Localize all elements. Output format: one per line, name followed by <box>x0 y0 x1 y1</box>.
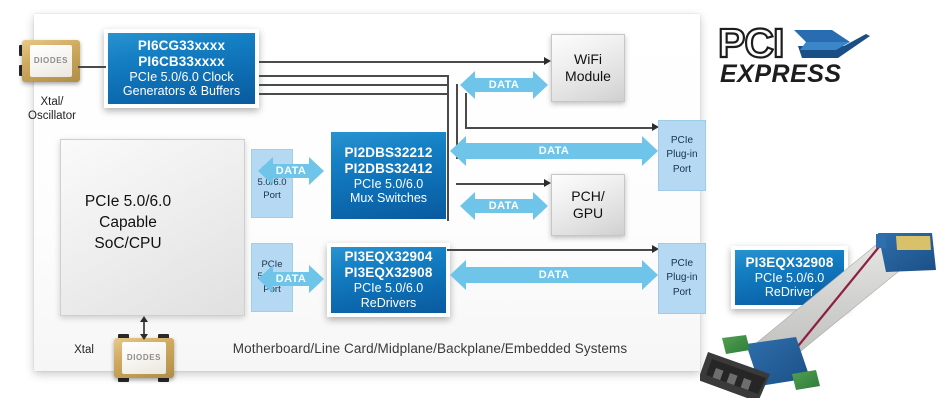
plug-top-line3: Port <box>673 163 691 177</box>
clock-arrowhead-pch <box>544 179 551 187</box>
soc-label-line3: SoC/CPU <box>67 234 189 255</box>
data-arrow-soc-mux: DATA <box>258 154 324 188</box>
wifi-line2: Module <box>565 68 611 85</box>
pcie-plugin-port-top: PCIe Plug-in Port <box>658 120 706 191</box>
clock-trace-plugbot <box>447 249 653 251</box>
data-arrow-soc-redriver-label: DATA <box>258 262 324 296</box>
xtal-bottom-lid: DIODES <box>122 342 166 373</box>
pci-express-logo-express: EXPRESS <box>720 60 842 89</box>
plug-bottom-line3: Port <box>673 286 691 300</box>
chip-clock-generator: PI6CG33xxxx PI6CB33xxxx PCIe 5.0/6.0 Clo… <box>104 29 259 108</box>
soc-label: PCIe 5.0/6.0 Capable SoC/CPU <box>67 192 189 255</box>
chip-redriver-desc2: ReDrivers <box>361 296 417 311</box>
xtal-oscillator-top: DIODES <box>22 40 80 82</box>
chip-mux-part1: PI2DBS32212 <box>345 145 433 161</box>
chip-mux-switch: PI2DBS32212 PI2DBS32412 PCIe 5.0/6.0 Mux… <box>327 128 450 223</box>
pci-express-logo: PCI EXPRESS <box>718 24 870 86</box>
pci-express-swoosh-icon <box>792 26 870 62</box>
data-arrow-plug-bottom-label: DATA <box>450 258 658 292</box>
chip-redriver-part2: PI3EQX32908 <box>345 265 433 281</box>
chip-redriver: PI3EQX32904 PI3EQX32908 PCIe 5.0/6.0 ReD… <box>327 243 450 317</box>
wifi-line1: WiFi <box>574 51 602 68</box>
data-arrow-pch-label: DATA <box>460 190 548 222</box>
plug-bottom-line1: PCIe <box>671 257 693 271</box>
chip-mux-part2: PI2DBS32412 <box>345 161 433 177</box>
chip-clock-part1: PI6CG33xxxx <box>138 38 225 54</box>
xtal-trace-clockgen <box>78 66 106 68</box>
wifi-module-block: WiFi Module <box>551 34 625 102</box>
xtal-top-brand: DIODES <box>34 56 68 65</box>
clock-trace-wifi <box>259 61 544 63</box>
clock-trace-4 <box>259 93 449 95</box>
xtal-oscillator-top-caption: Xtal/ Oscillator <box>12 96 92 124</box>
data-arrow-pch: DATA <box>460 190 548 222</box>
data-arrow-soc-redriver: DATA <box>258 262 324 296</box>
pch-gpu-block: PCH/ GPU <box>551 174 625 236</box>
clock-trace-plugtop <box>465 127 653 129</box>
soc-block: PCIe 5.0/6.0 Capable SoC/CPU PCIe 5.0/6.… <box>60 139 245 316</box>
clock-trace-pch <box>456 183 544 185</box>
xtal-bottom-caption: Xtal <box>62 344 106 358</box>
riser-top-gold-fingers <box>896 236 931 250</box>
pch-line1: PCH/ <box>571 188 604 205</box>
xtal-top-caption-line2: Oscillator <box>12 110 92 124</box>
soc-label-line1: PCIe 5.0/6.0 <box>67 192 189 213</box>
xtal-bottom-brand: DIODES <box>127 353 161 362</box>
port-top-line3: Port <box>263 190 280 203</box>
clock-trace-2 <box>259 75 449 77</box>
xtal-bottom-caption-line1: Xtal <box>62 344 106 358</box>
chip-mux-desc2: Mux Switches <box>350 191 427 206</box>
chip-clock-desc2: Generators & Buffers <box>123 84 240 99</box>
xtal-top-caption-line1: Xtal/ <box>12 96 92 110</box>
pcie-plugin-port-bottom: PCIe Plug-in Port <box>658 243 706 314</box>
data-arrow-soc-mux-label: DATA <box>258 154 324 188</box>
data-arrow-wifi: DATA <box>460 69 548 101</box>
clock-trunk-a <box>447 75 449 221</box>
soc-label-line2: Capable <box>67 213 189 234</box>
data-arrow-plug-top-label: DATA <box>450 134 658 168</box>
board-caption: Motherboard/Line Card/Midplane/Backplane… <box>200 341 660 356</box>
xtal-top-lid: DIODES <box>30 45 73 78</box>
plug-bottom-line2: Plug-in <box>666 271 697 285</box>
plug-top-line2: Plug-in <box>666 148 697 162</box>
riser-bottom-green-tab-left <box>722 335 750 354</box>
plug-top-line1: PCIe <box>671 134 693 148</box>
clock-arrowhead-wifi <box>544 57 551 65</box>
chip-clock-part2: PI6CB33xxxx <box>138 54 224 70</box>
chip-clock-desc1: PCIe 5.0/6.0 Clock <box>129 70 233 85</box>
pcie-riser-cable-assembly <box>700 228 950 398</box>
chip-redriver-desc1: PCIe 5.0/6.0 <box>354 281 424 296</box>
data-arrow-plug-bottom: DATA <box>450 258 658 292</box>
diagram-canvas: PCIe 5.0/6.0 Capable SoC/CPU PCIe 5.0/6.… <box>0 0 950 416</box>
xtal-bottom-connector-arrow <box>138 316 150 340</box>
xtal-bottom: DIODES <box>114 338 174 378</box>
clock-trace-3 <box>259 84 449 86</box>
chip-mux-desc1: PCIe 5.0/6.0 <box>354 177 424 192</box>
pch-line2: GPU <box>573 205 603 222</box>
data-arrow-wifi-label: DATA <box>460 69 548 101</box>
riser-top-mount-tab-a <box>876 234 886 248</box>
chip-redriver-part1: PI3EQX32904 <box>345 249 433 265</box>
data-arrow-plug-top: DATA <box>450 134 658 168</box>
